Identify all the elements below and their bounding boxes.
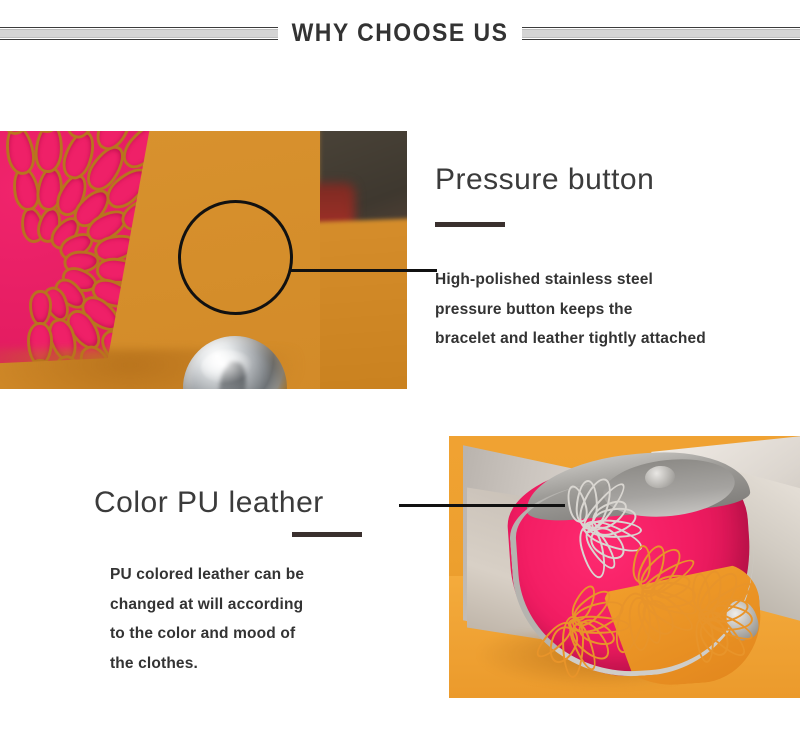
cuff-bracelet [505,454,757,679]
header-rule-right-line-top [522,27,800,28]
feature-body-line: to the color and mood of [110,619,304,649]
feature-body-color-pu-leather: PU colored leather can be changed at wil… [110,560,304,678]
callout-line-pressure-button [289,269,437,272]
header-rule-right [522,27,800,41]
feature-image-color-pu-leather [449,436,800,698]
pressure-button-highlight [201,350,253,384]
lasercut-petal [32,293,49,323]
feature-body-line: changed at will according [110,590,304,620]
feature-title-color-pu-leather: Color PU leather [94,486,324,520]
feature-body-line: bracelet and leather tightly attached [435,324,706,354]
header-rule-right-line-bottom [522,39,800,40]
feature-body-line: pressure button keeps the [435,295,706,325]
page-header: WHY CHOOSE US [0,0,800,80]
callout-circle-pressure-button [178,200,293,315]
lasercut-petal [13,169,39,210]
feature-underline-pressure-button [435,222,505,227]
feature-title-pressure-button: Pressure button [435,163,654,197]
feature-body-pressure-button: High-polished stainless steel pressure b… [435,265,706,354]
feature-body-line: the clothes. [110,649,304,679]
feature-underline-color-pu-leather [292,532,362,537]
lasercut-petal [37,131,62,171]
callout-line-color-pu-leather [399,504,565,507]
lasercut-petal [5,131,34,173]
feature-body-line: High-polished stainless steel [435,265,706,295]
header-rule-right-band [522,29,800,38]
feature-body-line: PU colored leather can be [110,560,304,590]
